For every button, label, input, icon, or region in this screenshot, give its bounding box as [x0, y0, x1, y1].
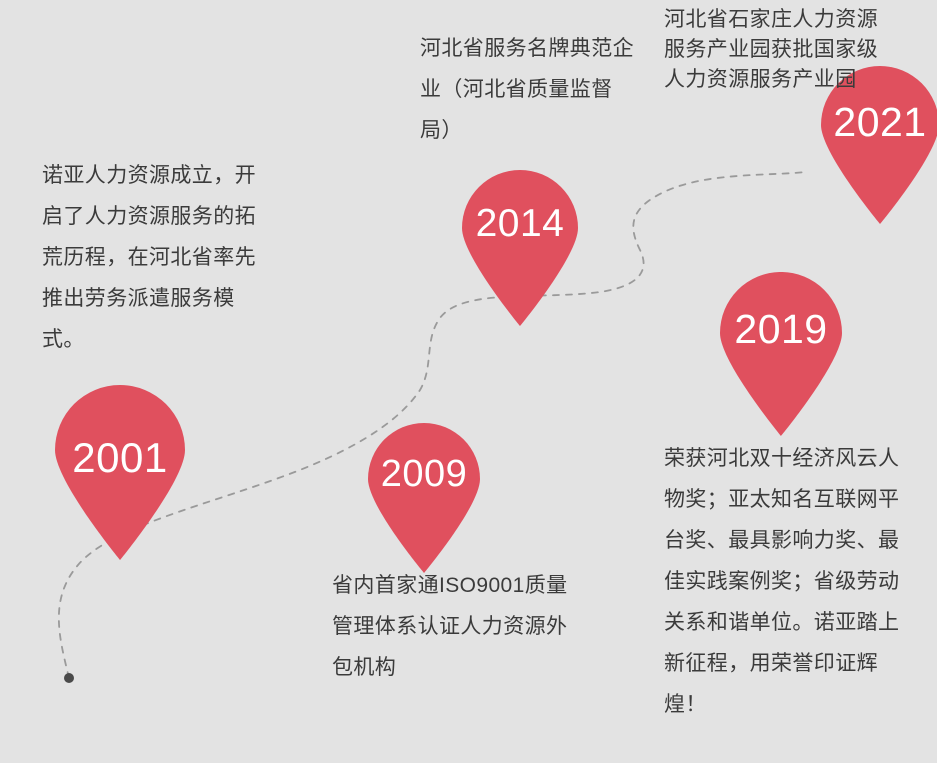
milestone-description-2014: 河北省服务名牌典范企业（河北省质量监督局）	[420, 28, 642, 151]
milestone-description-2001: 诺亚人力资源成立，开启了人力资源服务的拓荒历程，在河北省率先推出劳务派遣服务模式…	[42, 155, 274, 360]
year-label-2014: 2014	[462, 202, 578, 246]
year-label-2009: 2009	[368, 453, 480, 496]
milestone-description-2021: 河北省石家庄人力资源服务产业园获批国家级人力资源服务产业园	[664, 5, 882, 95]
map-pin-icon-2009[interactable]	[368, 423, 480, 573]
year-label-2021: 2021	[821, 99, 937, 146]
map-pin-icon-2014[interactable]	[462, 170, 578, 326]
map-pin-icon-2019[interactable]	[720, 272, 842, 436]
year-label-2019: 2019	[720, 306, 842, 353]
milestone-description-2019: 荣获河北双十经济风云人物奖；亚太知名互联网平台奖、最具影响力奖、最佳实践案例奖；…	[664, 438, 900, 725]
year-label-2001: 2001	[55, 434, 185, 482]
timeline-infographic: 2001 诺亚人力资源成立，开启了人力资源服务的拓荒历程，在河北省率先推出劳务派…	[0, 0, 937, 763]
milestone-description-2009: 省内首家通ISO9001质量管理体系认证人力资源外包机构	[332, 565, 570, 688]
